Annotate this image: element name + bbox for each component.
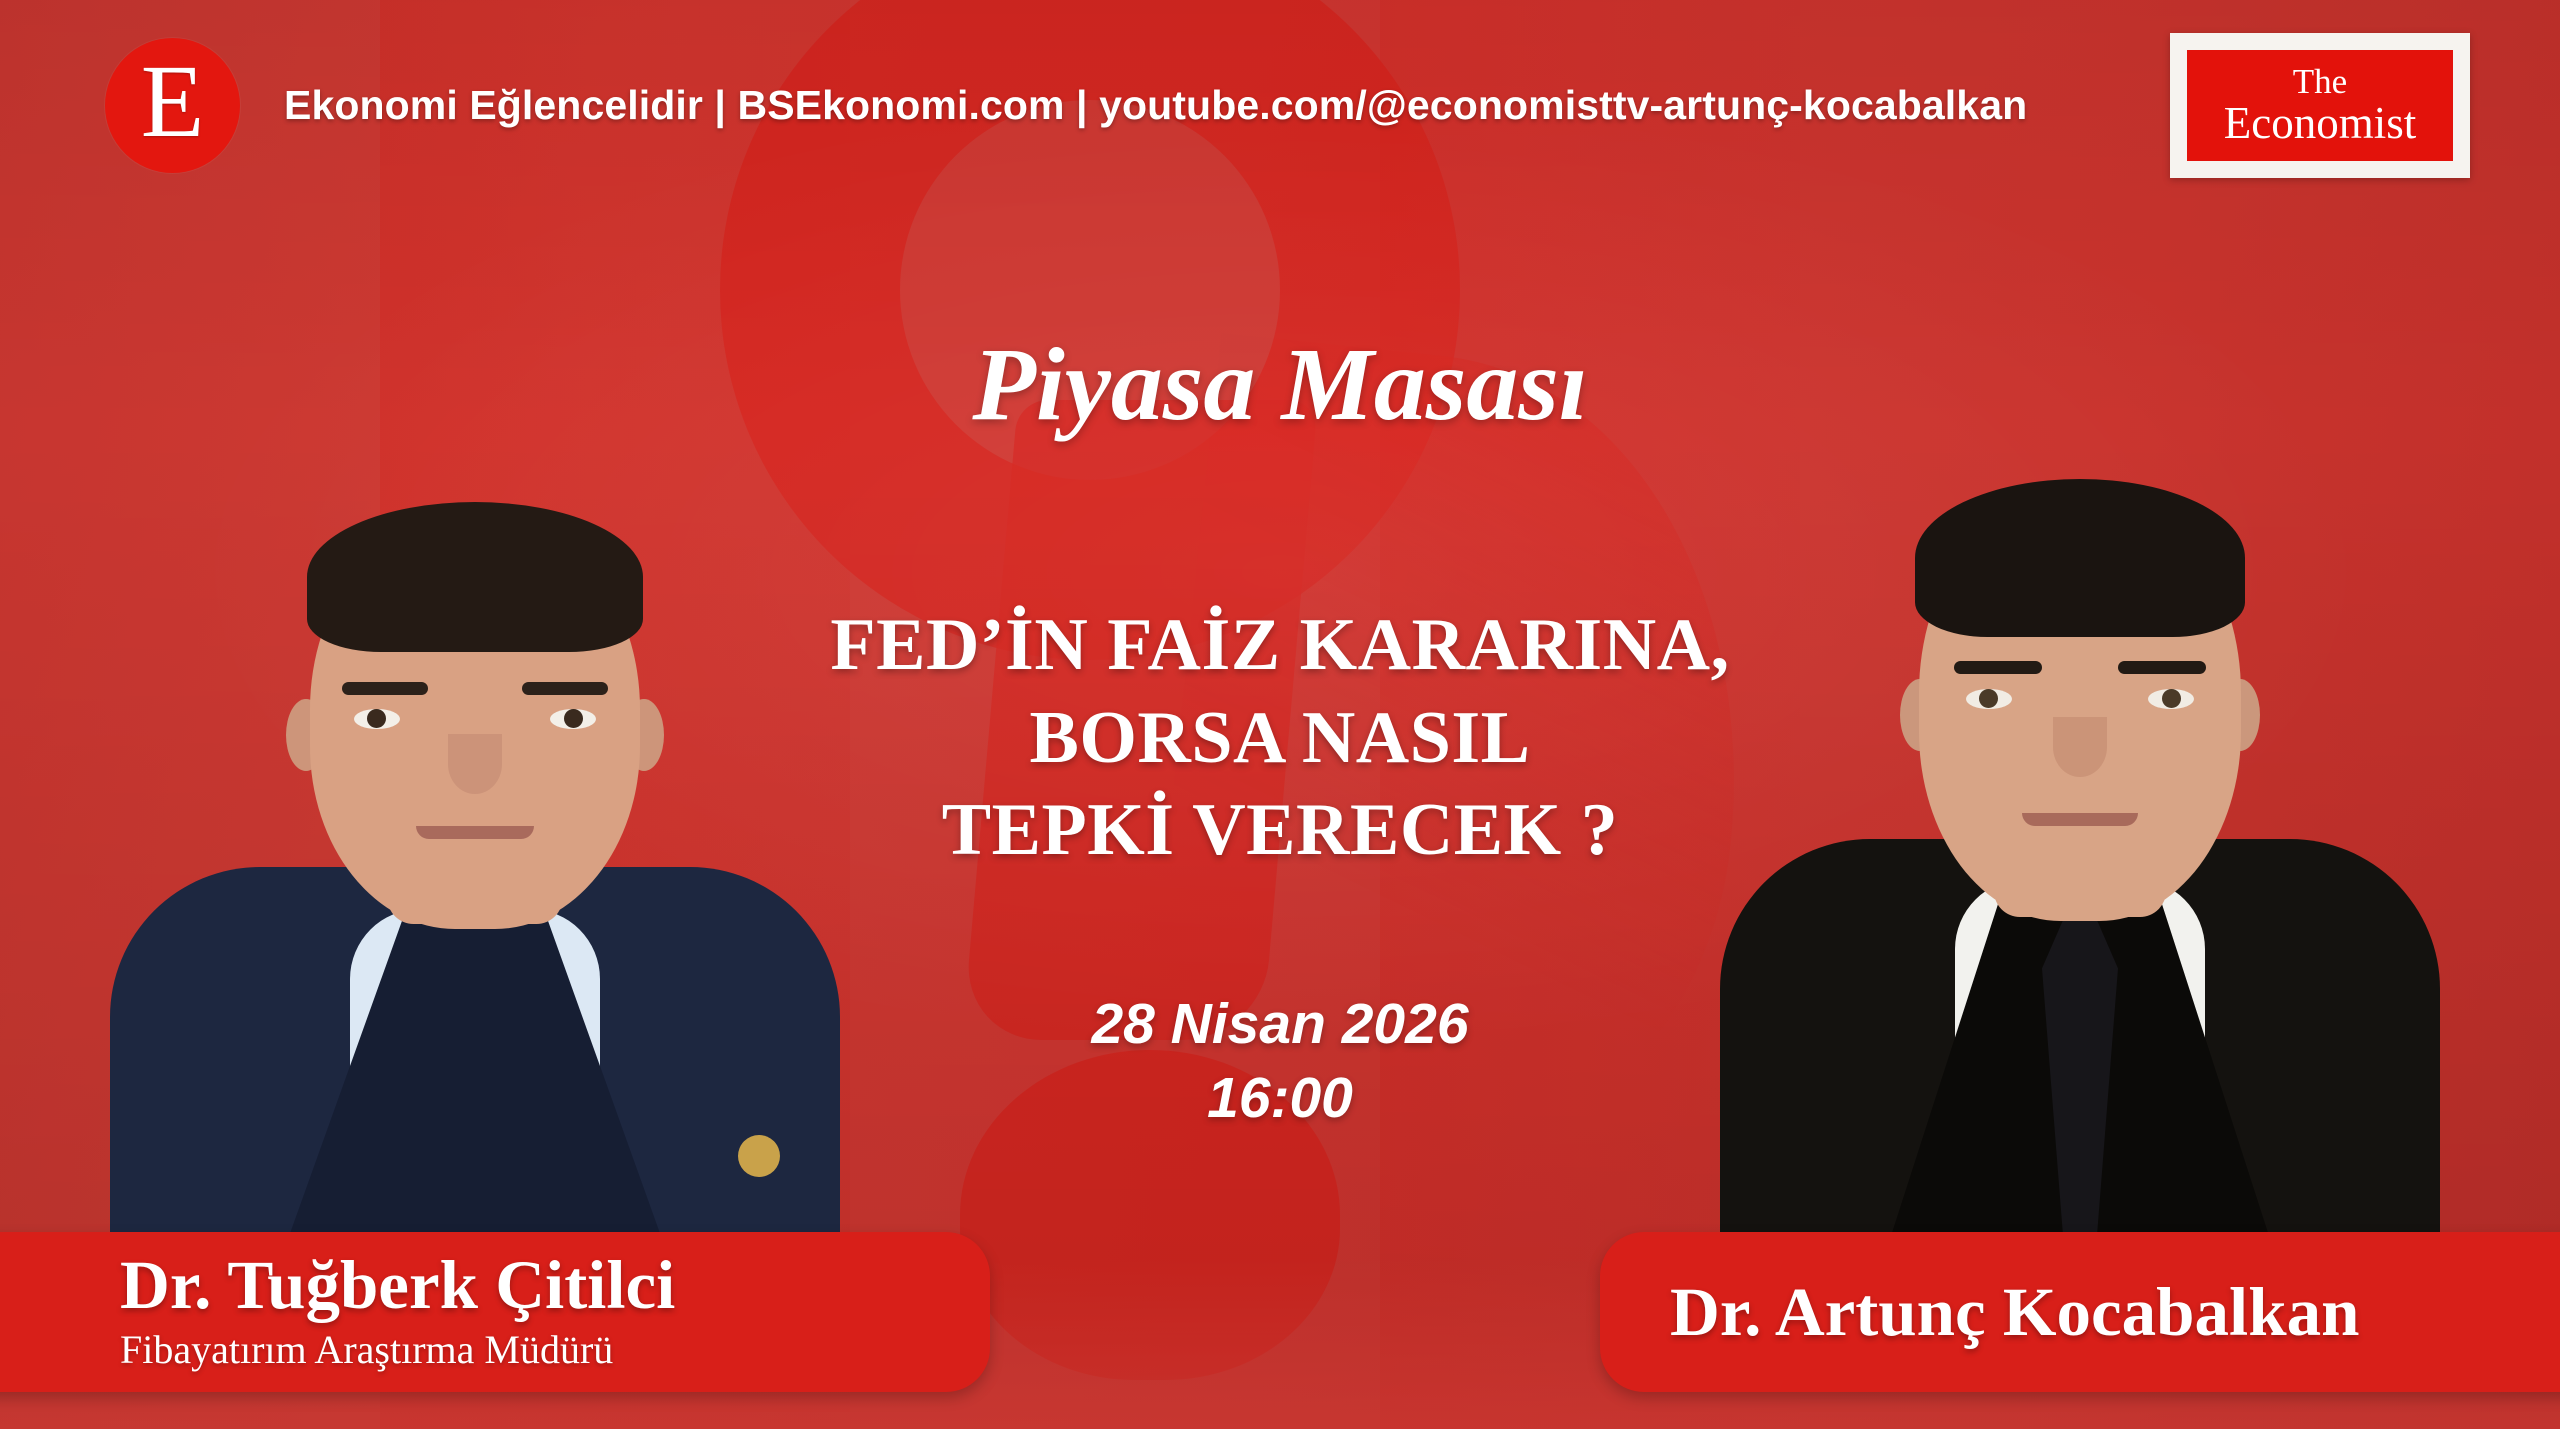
show-title: Piyasa Masası [650, 330, 1910, 439]
question-line-2: BORSA NASIL [650, 692, 1910, 785]
blazer-crest-icon [738, 1135, 780, 1177]
event-date: 28 Nisan 2026 [650, 987, 1910, 1061]
economist-logo-the: The [2293, 64, 2347, 99]
guest-name-right: Dr. Artunç Kocabalkan [1670, 1277, 2560, 1347]
guest-role-left: Fibayatırım Araştırma Müdürü [120, 1326, 990, 1374]
logo-letter: E [141, 50, 205, 154]
economist-e-circle-icon: E [105, 38, 240, 173]
event-poster: E Ekonomi Eğlencelidir | BSEkonomi.com |… [0, 0, 2560, 1429]
poster-main-content: Piyasa Masası FED’İN FAİZ KARARINA, BORS… [650, 330, 1910, 1135]
episode-question: FED’İN FAİZ KARARINA, BORSA NASIL TEPKİ … [650, 599, 1910, 877]
guest-name-left: Dr. Tuğberk Çitilci [120, 1250, 990, 1320]
guest-banner-left: Dr. Tuğberk Çitilci Fibayatırım Araştırm… [0, 1232, 990, 1392]
guest-banner-right: Dr. Artunç Kocabalkan [1600, 1232, 2560, 1392]
economist-logo-name: Economist [2224, 101, 2416, 146]
the-economist-logo: The Economist [2170, 33, 2470, 178]
header-tagline: Ekonomi Eğlencelidir | BSEkonomi.com | y… [284, 82, 2170, 129]
question-line-3: TEPKİ VERECEK ? [650, 784, 1910, 877]
question-line-1: FED’İN FAİZ KARARINA, [650, 599, 1910, 692]
event-datetime: 28 Nisan 2026 16:00 [650, 987, 1910, 1135]
poster-header: E Ekonomi Eğlencelidir | BSEkonomi.com |… [0, 0, 2560, 210]
event-time: 16:00 [650, 1061, 1910, 1135]
